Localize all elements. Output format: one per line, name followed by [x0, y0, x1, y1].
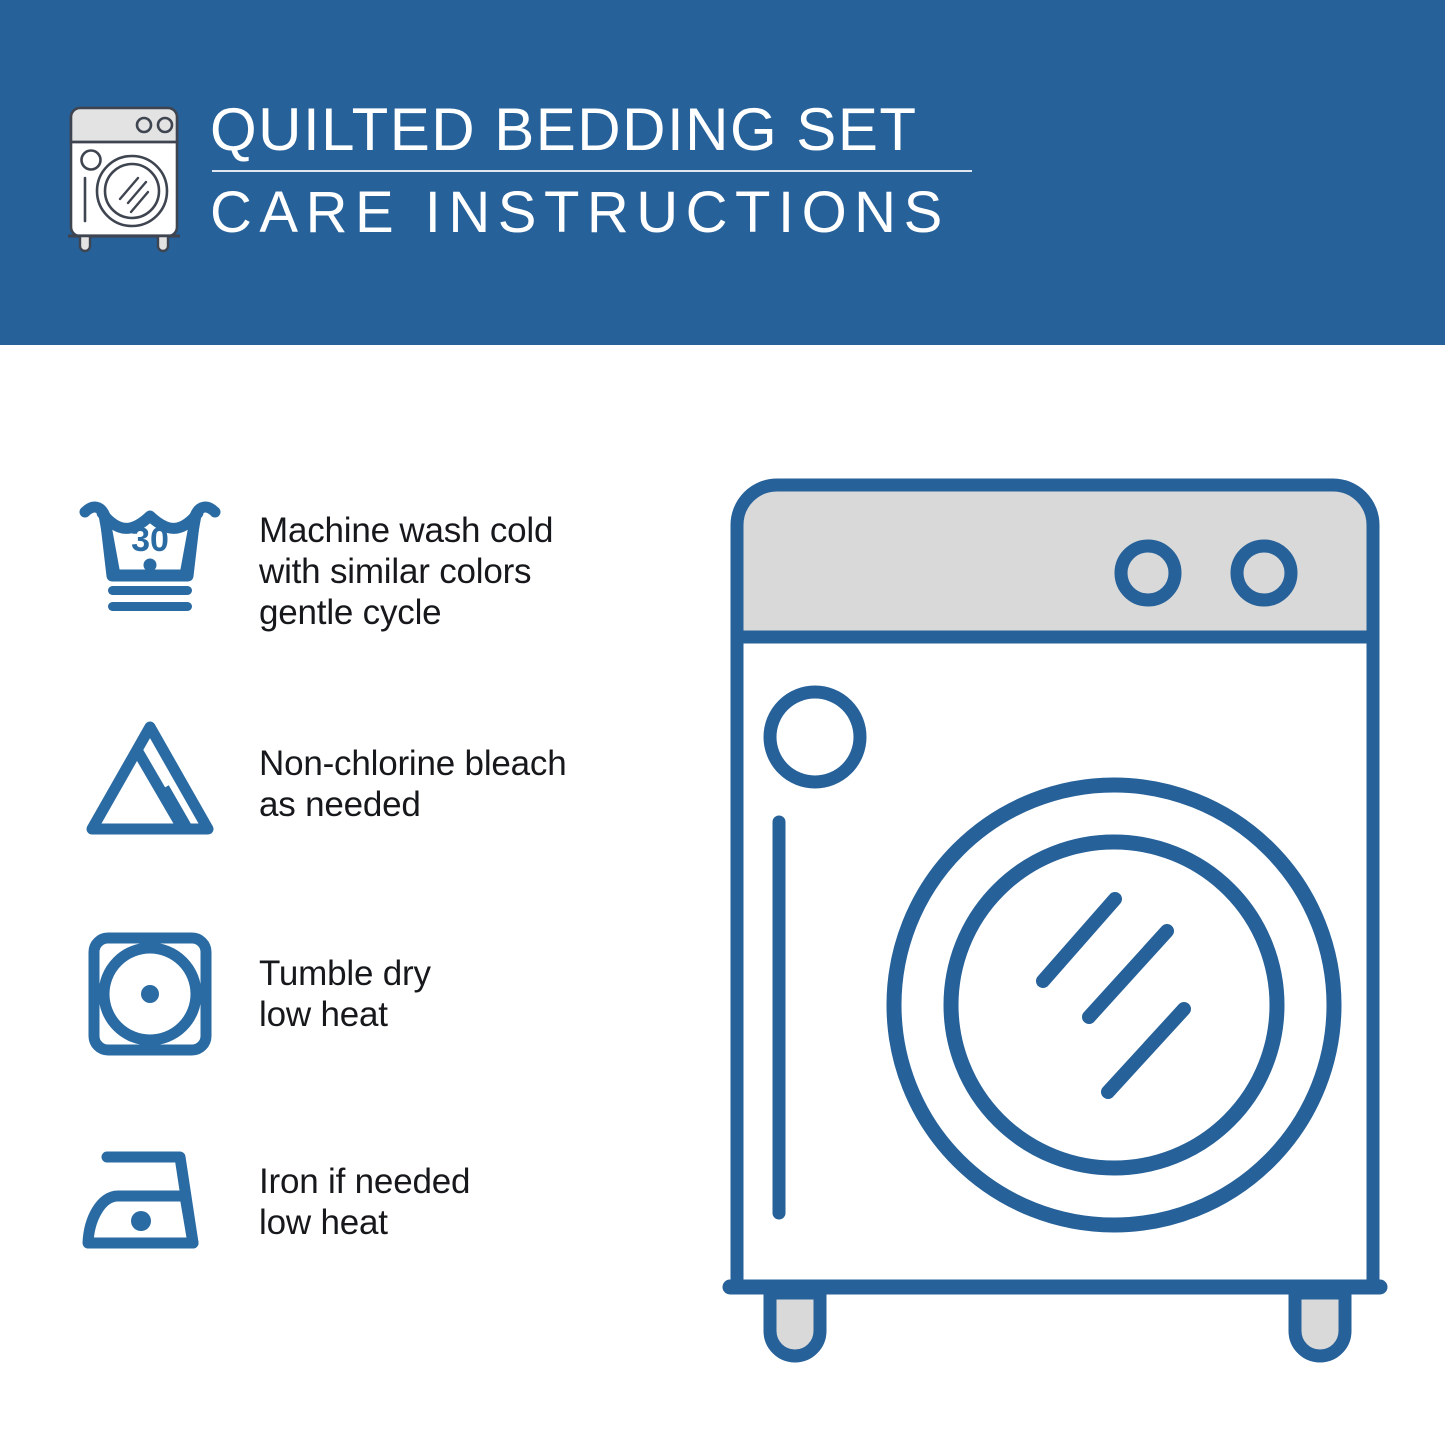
care-instruction-row: Iron if needed low heat: [62, 1135, 682, 1261]
care-instruction-text: Machine wash cold with similar colors ge…: [237, 490, 682, 633]
care-instruction-text: Iron if needed low heat: [237, 1135, 682, 1243]
iron-low-heat-icon: [62, 1135, 237, 1261]
front-load-washing-machine-illustration: [715, 465, 1395, 1375]
care-instructions-infographic: QUILTED BEDDING SET CARE INSTRUCTIONS 30: [0, 0, 1445, 1445]
header-band: QUILTED BEDDING SET CARE INSTRUCTIONS: [0, 0, 1445, 345]
care-text-line: Iron if needed: [259, 1161, 682, 1202]
detergent-dial: [770, 692, 860, 782]
care-text-line: Non-chlorine bleach: [259, 743, 682, 784]
door-reflection-line: [1108, 1009, 1184, 1092]
washing-machine-icon: [62, 102, 186, 254]
leg-left: [770, 1293, 820, 1356]
door-reflection-line: [1043, 899, 1115, 981]
care-text-line: with similar colors: [259, 551, 682, 592]
care-text-line: gentle cycle: [259, 592, 682, 633]
header-content: QUILTED BEDDING SET CARE INSTRUCTIONS: [62, 96, 1002, 258]
care-instruction-text: Non-chlorine bleach as needed: [237, 715, 682, 825]
care-text-line: low heat: [259, 994, 682, 1035]
care-instruction-row: Tumble dry low heat: [62, 925, 682, 1061]
control-panel: [737, 485, 1373, 637]
wash-tub-30-gentle-icon: 30: [62, 490, 237, 624]
care-instruction-row: 30 Machine wash cold with similar colors…: [62, 490, 682, 633]
door-inner-ring: [951, 842, 1277, 1168]
header-titles: QUILTED BEDDING SET CARE INSTRUCTIONS: [210, 96, 1000, 246]
door-outer-ring: [894, 785, 1334, 1225]
page-title: QUILTED BEDDING SET: [210, 96, 1000, 164]
care-text-line: Tumble dry: [259, 953, 682, 994]
non-chlorine-bleach-triangle-icon: [62, 715, 237, 839]
door-reflection-line: [1089, 931, 1167, 1017]
tumble-dry-low-icon: [62, 925, 237, 1061]
care-text-line: as needed: [259, 784, 682, 825]
title-divider: [212, 170, 972, 172]
leg-right: [1295, 1293, 1345, 1356]
care-text-line: Machine wash cold: [259, 510, 682, 551]
page-subtitle: CARE INSTRUCTIONS: [210, 180, 1000, 246]
care-instruction-row: Non-chlorine bleach as needed: [62, 715, 682, 839]
care-instruction-text: Tumble dry low heat: [237, 925, 682, 1035]
care-text-line: low heat: [259, 1202, 682, 1243]
wash-temperature-label: 30: [131, 521, 169, 559]
